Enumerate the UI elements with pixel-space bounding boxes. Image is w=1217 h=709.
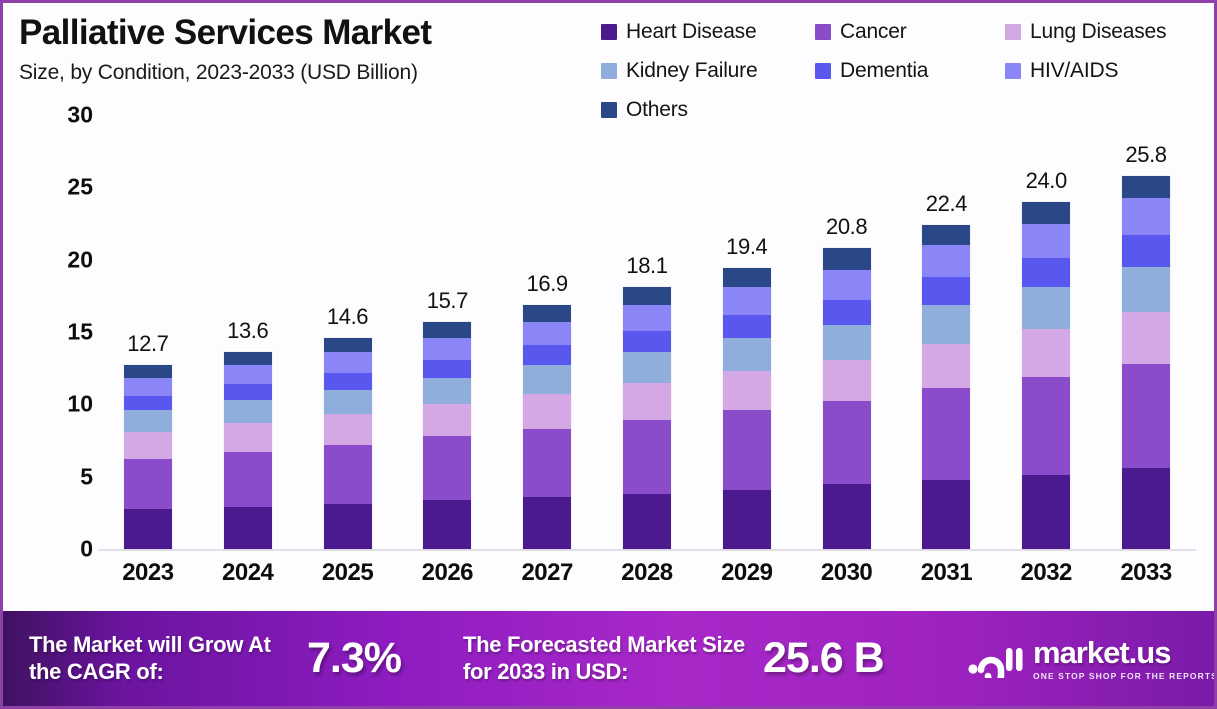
bar-stack [922,225,970,549]
bar-segment-others[interactable] [523,305,571,322]
y-axis-tick: 10 [31,391,93,418]
bar-segment-heart-disease[interactable] [922,480,970,549]
bar-total-label: 20.8 [797,214,897,240]
x-axis-tick: 2026 [397,559,497,599]
bar-total-label: 18.1 [597,253,697,279]
bar-segment-cancer[interactable] [124,459,172,508]
bar-column[interactable]: 19.4 [697,115,797,549]
title-block: Palliative Services Market Size, by Cond… [19,15,599,85]
bar-stack [723,268,771,549]
legend-item-hiv-aids[interactable]: HIV/AIDS [1005,51,1205,90]
logo-text-block: market.us ONE STOP SHOP FOR THE REPORTS [1033,637,1217,681]
bar-segment-dementia[interactable] [823,300,871,325]
bar-column[interactable]: 14.6 [298,115,398,549]
bar-segment-kidney-failure[interactable] [523,365,571,394]
legend-item-lung-diseases[interactable]: Lung Diseases [1005,12,1205,51]
forecast-size-caption: The Forecasted Market Size for 2033 in U… [463,632,753,686]
legend-swatch-icon [1005,63,1021,79]
legend-swatch-icon [601,24,617,40]
bar-column[interactable]: 13.6 [198,115,298,549]
y-axis-tick: 20 [31,246,93,273]
x-axis-tick: 2025 [298,559,398,599]
y-axis-tick: 25 [31,174,93,201]
bar-segment-heart-disease[interactable] [1122,468,1170,549]
bar-segment-others[interactable] [224,352,272,365]
bar-column[interactable]: 12.7 [98,115,198,549]
bar-segment-heart-disease[interactable] [623,494,671,549]
bar-segment-dementia[interactable] [922,277,970,304]
legend-item-label: Cancer [840,20,907,44]
bar-segment-kidney-failure[interactable] [324,390,372,415]
bar-segment-lung-diseases[interactable] [922,344,970,389]
x-axis-line [98,549,1196,551]
legend-item-dementia[interactable]: Dementia [815,51,1003,90]
footer-banner: The Market will Grow At the CAGR of: 7.3… [3,611,1217,706]
bar-total-label: 22.4 [897,191,997,217]
bar-segment-others[interactable] [1022,202,1070,224]
market-us-logo-icon [967,640,1025,678]
x-axis-tick: 2031 [897,559,997,599]
bar-segment-dementia[interactable] [723,315,771,338]
x-axis-tick: 2032 [996,559,1096,599]
bar-segment-dementia[interactable] [423,360,471,379]
bar-segment-dementia[interactable] [324,373,372,390]
legend-item-heart-disease[interactable]: Heart Disease [601,12,813,51]
bar-segment-dementia[interactable] [1022,258,1070,287]
bar-segment-dementia[interactable] [1122,235,1170,267]
bar-total-label: 25.8 [1096,142,1196,168]
legend-item-label: HIV/AIDS [1030,59,1118,83]
bar-stack [224,352,272,549]
bar-segment-lung-diseases[interactable] [224,423,272,452]
bar-segment-others[interactable] [922,225,970,245]
bar-segment-lung-diseases[interactable] [324,414,372,444]
bar-segment-cancer[interactable] [523,429,571,497]
y-axis-tick: 30 [31,102,93,129]
market-us-logo[interactable]: market.us ONE STOP SHOP FOR THE REPORTS [967,637,1217,681]
legend-item-label: Dementia [840,59,928,83]
cagr-value: 7.3% [307,634,457,683]
bar-segment-others[interactable] [723,268,771,287]
bar-segment-others[interactable] [623,287,671,304]
chart-header: Palliative Services Market Size, by Cond… [3,3,1217,125]
chart-infographic: Palliative Services Market Size, by Cond… [0,0,1217,709]
legend-item-label: Kidney Failure [626,59,757,83]
page-subtitle: Size, by Condition, 2023-2033 (USD Billi… [19,61,599,85]
bar-segment-lung-diseases[interactable] [623,383,671,421]
bar-column[interactable]: 25.8 [1096,115,1196,549]
bar-total-label: 14.6 [298,304,398,330]
bar-segment-others[interactable] [324,338,372,352]
bar-segment-hiv-aids[interactable] [723,287,771,314]
bar-segment-hiv-aids[interactable] [124,378,172,395]
bar-segment-hiv-aids[interactable] [423,338,471,360]
bar-total-label: 13.6 [198,318,298,344]
legend-swatch-icon [815,63,831,79]
bar-segment-heart-disease[interactable] [324,504,372,549]
bar-segment-kidney-failure[interactable] [1122,267,1170,312]
legend-item-label: Heart Disease [626,20,756,44]
bar-segment-kidney-failure[interactable] [723,338,771,371]
legend-item-label: Lung Diseases [1030,20,1166,44]
bar-stack [623,287,671,549]
bar-segment-hiv-aids[interactable] [523,322,571,345]
bar-segment-heart-disease[interactable] [823,484,871,549]
bar-segment-kidney-failure[interactable] [224,400,272,423]
bar-segment-heart-disease[interactable] [723,490,771,549]
logo-name: market.us [1033,637,1217,668]
bar-segment-lung-diseases[interactable] [823,360,871,402]
bar-column[interactable]: 18.1 [597,115,697,549]
bar-segment-kidney-failure[interactable] [124,410,172,432]
bar-stack [1122,176,1170,549]
bar-segment-kidney-failure[interactable] [922,305,970,344]
x-axis-tick: 2028 [597,559,697,599]
legend-item-cancer[interactable]: Cancer [815,12,1003,51]
bar-segment-hiv-aids[interactable] [623,305,671,331]
bar-segment-cancer[interactable] [723,410,771,490]
bar-segment-heart-disease[interactable] [124,509,172,550]
x-axis-tick: 2030 [797,559,897,599]
bar-total-label: 12.7 [98,331,198,357]
bar-total-label: 24.0 [996,168,1096,194]
legend-swatch-icon [815,24,831,40]
bar-stack [124,365,172,549]
bar-column[interactable]: 20.8 [797,115,897,549]
bar-segment-cancer[interactable] [922,388,970,479]
bar-segment-dementia[interactable] [124,396,172,410]
bar-segment-cancer[interactable] [1122,364,1170,468]
x-axis-tick: 2033 [1096,559,1196,599]
bar-segment-dementia[interactable] [623,331,671,353]
bar-stack [324,338,372,549]
bar-stack [523,305,571,549]
bar-segment-lung-diseases[interactable] [1022,329,1070,377]
bar-segment-kidney-failure[interactable] [423,378,471,404]
bar-segment-others[interactable] [1122,176,1170,198]
bar-segment-heart-disease[interactable] [523,497,571,549]
legend-swatch-icon [601,63,617,79]
bar-segment-cancer[interactable] [324,445,372,504]
bar-segment-cancer[interactable] [224,452,272,507]
bar-segment-dementia[interactable] [224,384,272,400]
logo-tagline: ONE STOP SHOP FOR THE REPORTS [1033,671,1217,681]
bar-stack [1022,202,1070,549]
page-title: Palliative Services Market [19,15,599,52]
bar-segment-others[interactable] [423,322,471,338]
bar-segment-heart-disease[interactable] [1022,475,1070,549]
bar-total-label: 16.9 [497,271,597,297]
legend-item-kidney-failure[interactable]: Kidney Failure [601,51,813,90]
bar-column[interactable]: 24.0 [996,115,1096,549]
x-axis-tick: 2029 [697,559,797,599]
bar-segment-kidney-failure[interactable] [623,352,671,382]
bar-segment-lung-diseases[interactable] [423,404,471,436]
chart-legend: Heart DiseaseCancerLung DiseasesKidney F… [601,12,1209,129]
y-axis-tick: 0 [31,536,93,563]
bar-series-group: 12.713.614.615.716.918.119.420.822.424.0… [98,115,1196,549]
bar-segment-heart-disease[interactable] [423,500,471,549]
bar-column[interactable]: 15.7 [397,115,497,549]
y-axis-tick: 15 [31,319,93,346]
bar-stack [423,322,471,549]
plot-area: 051015202530 12.713.614.615.716.918.119.… [3,115,1217,610]
bar-stack [823,248,871,549]
bar-segment-cancer[interactable] [423,436,471,500]
bar-segment-kidney-failure[interactable] [1022,287,1070,329]
forecast-size-value: 25.6 B [763,634,953,683]
bar-total-label: 15.7 [397,288,497,314]
y-axis: 051015202530 [31,115,93,549]
bar-segment-hiv-aids[interactable] [324,352,372,372]
cagr-caption: The Market will Grow At the CAGR of: [29,632,299,686]
bar-segment-hiv-aids[interactable] [224,365,272,384]
bar-segment-cancer[interactable] [623,420,671,494]
bar-segment-cancer[interactable] [1022,377,1070,475]
x-axis-tick: 2027 [497,559,597,599]
bar-segment-lung-diseases[interactable] [124,432,172,459]
x-axis: 2023202420252026202720282029203020312032… [98,559,1196,599]
bar-segment-dementia[interactable] [523,345,571,365]
y-axis-tick: 5 [31,463,93,490]
bar-segment-hiv-aids[interactable] [823,270,871,300]
bar-segment-hiv-aids[interactable] [1022,224,1070,259]
bar-segment-cancer[interactable] [823,401,871,483]
bar-column[interactable]: 16.9 [497,115,597,549]
bar-column[interactable]: 22.4 [897,115,997,549]
bar-segment-others[interactable] [823,248,871,270]
bar-segment-heart-disease[interactable] [224,507,272,549]
bar-segment-lung-diseases[interactable] [723,371,771,410]
bar-segment-hiv-aids[interactable] [1122,198,1170,236]
x-axis-tick: 2023 [98,559,198,599]
legend-swatch-icon [1005,24,1021,40]
bar-total-label: 19.4 [697,234,797,260]
bar-segment-lung-diseases[interactable] [523,394,571,429]
bar-segment-hiv-aids[interactable] [922,245,970,277]
bar-segment-lung-diseases[interactable] [1122,312,1170,364]
bar-segment-kidney-failure[interactable] [823,325,871,360]
x-axis-tick: 2024 [198,559,298,599]
bar-segment-others[interactable] [124,365,172,378]
